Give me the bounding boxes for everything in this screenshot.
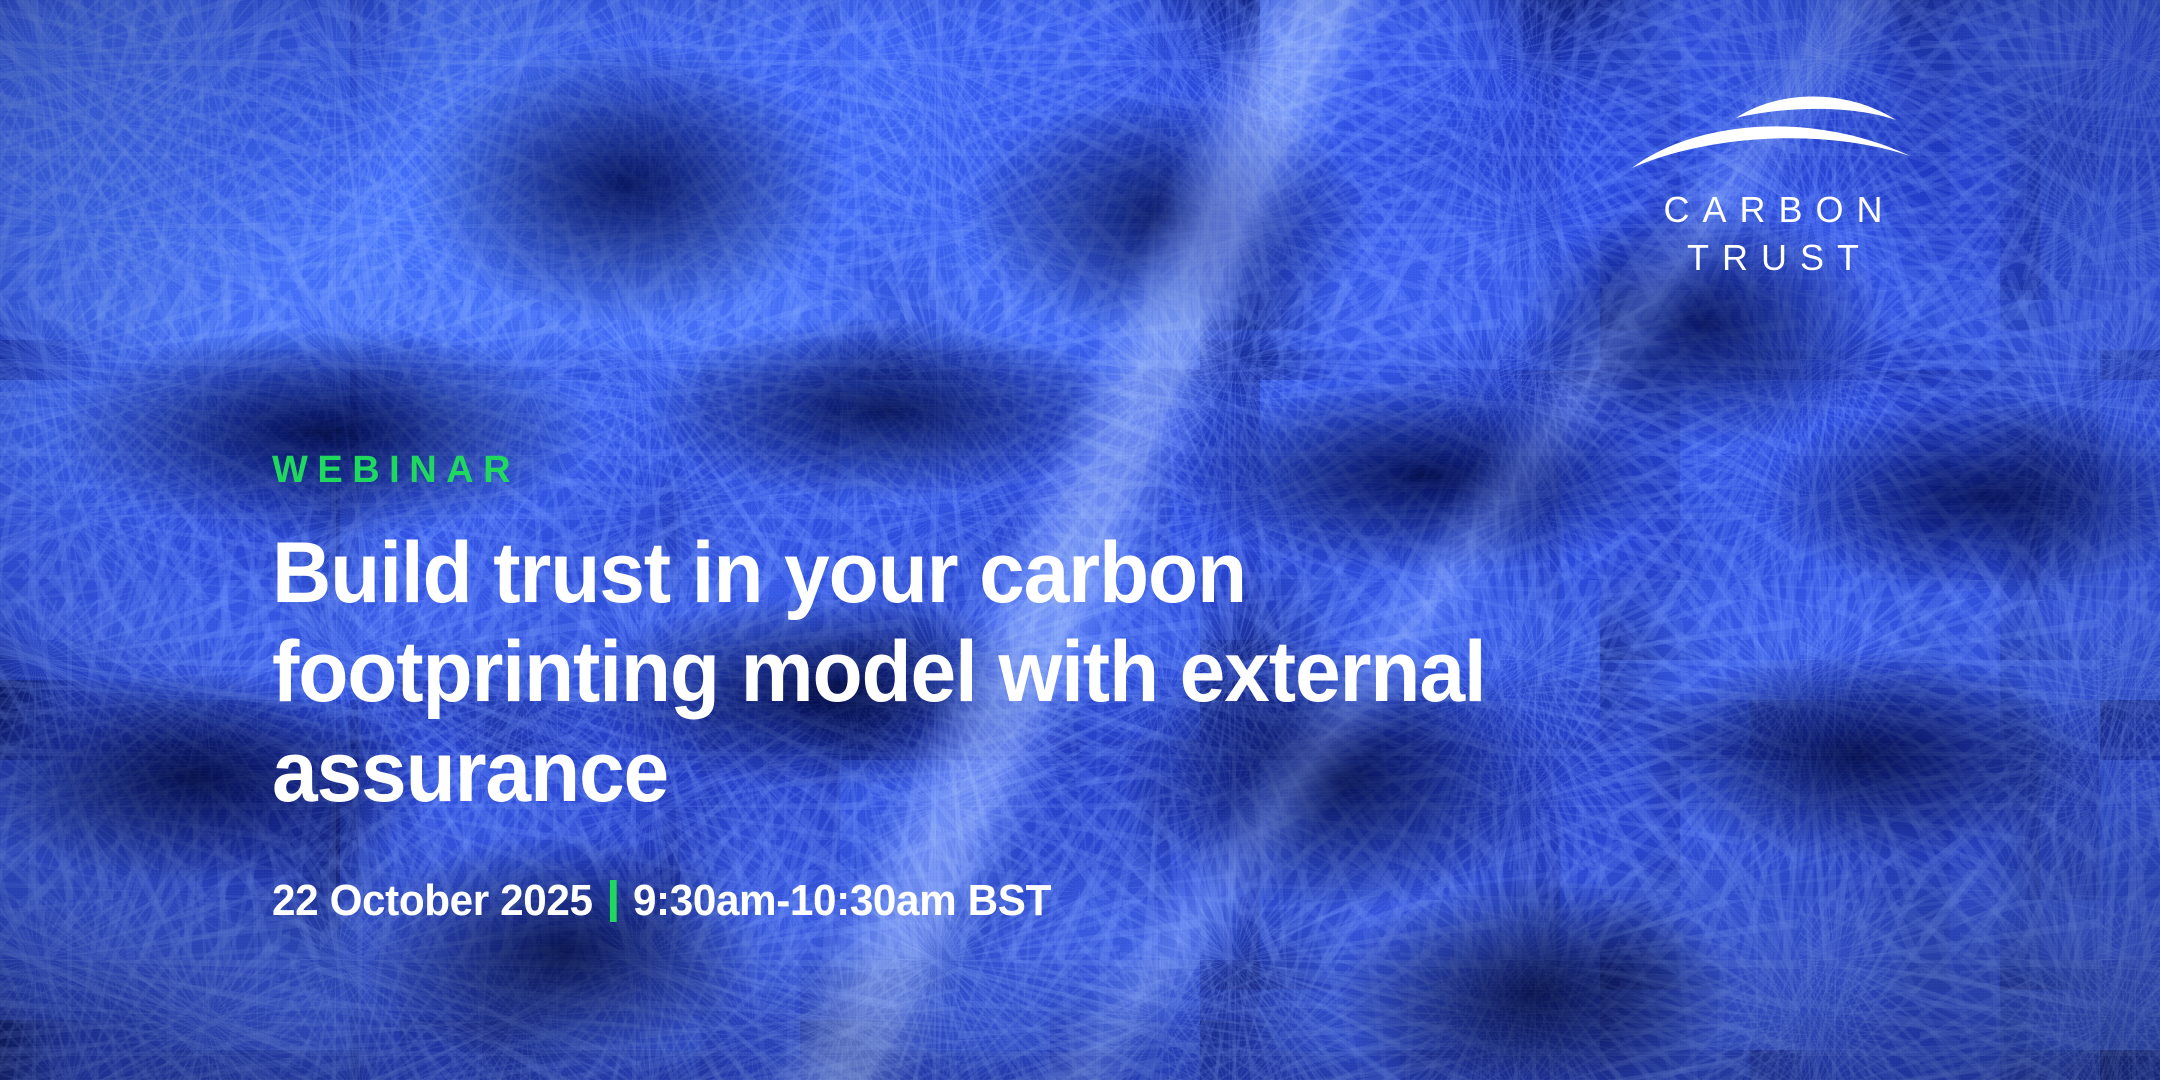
- event-datetime: 22 October 2025 9:30am-10:30am BST: [272, 879, 1051, 923]
- event-time: 9:30am-10:30am BST: [633, 879, 1051, 923]
- headline-line-3: assurance: [272, 723, 1762, 822]
- datetime-separator: [610, 880, 617, 922]
- page-title: Build trust in your carbon footprinting …: [272, 524, 1762, 822]
- headline-line-2: footprinting model with external: [272, 623, 1762, 722]
- headline-line-1: Build trust in your carbon: [272, 524, 1762, 623]
- banner-content: WEBINAR Build trust in your carbon footp…: [272, 0, 1832, 1080]
- eyebrow-label: WEBINAR: [272, 451, 520, 489]
- event-date: 22 October 2025: [272, 879, 593, 923]
- webinar-banner: CARBON TRUST WEBINAR Build trust in your…: [0, 0, 2160, 1080]
